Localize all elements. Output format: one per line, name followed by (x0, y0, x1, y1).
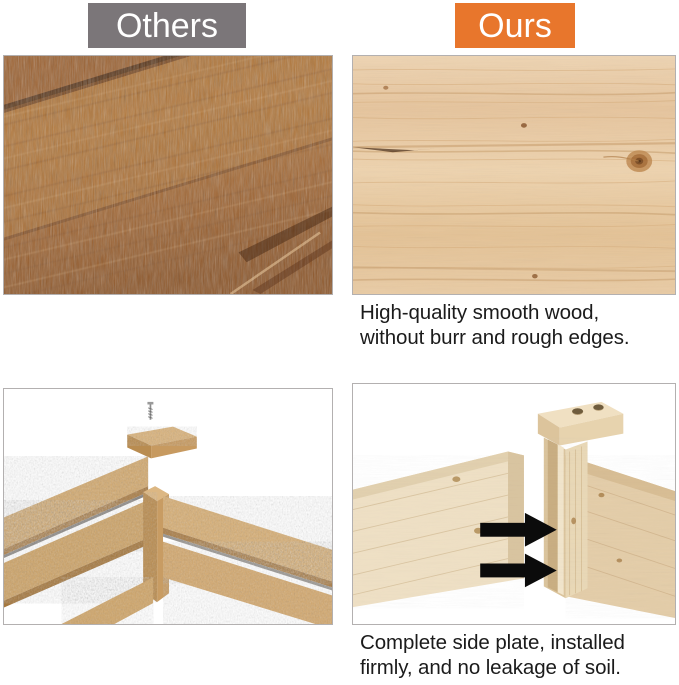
ours-corner-assembly-photo (352, 383, 676, 625)
others-corner-assembly-photo (3, 388, 333, 625)
others-badge-label: Others (116, 9, 218, 43)
side-plate-caption: Complete side plate, installed firmly, a… (360, 630, 676, 680)
ours-smooth-wood-photo (352, 55, 676, 295)
ours-badge: Ours (455, 3, 575, 48)
others-corner-illustration (4, 389, 332, 624)
others-badge: Others (88, 3, 246, 48)
rough-wood-illustration (4, 56, 332, 294)
ours-corner-illustration (353, 384, 675, 624)
smooth-wood-illustration (353, 56, 675, 294)
smooth-wood-caption: High-quality smooth wood, without burr a… (360, 300, 676, 350)
ours-badge-label: Ours (478, 9, 552, 43)
others-rough-wood-photo (3, 55, 333, 295)
